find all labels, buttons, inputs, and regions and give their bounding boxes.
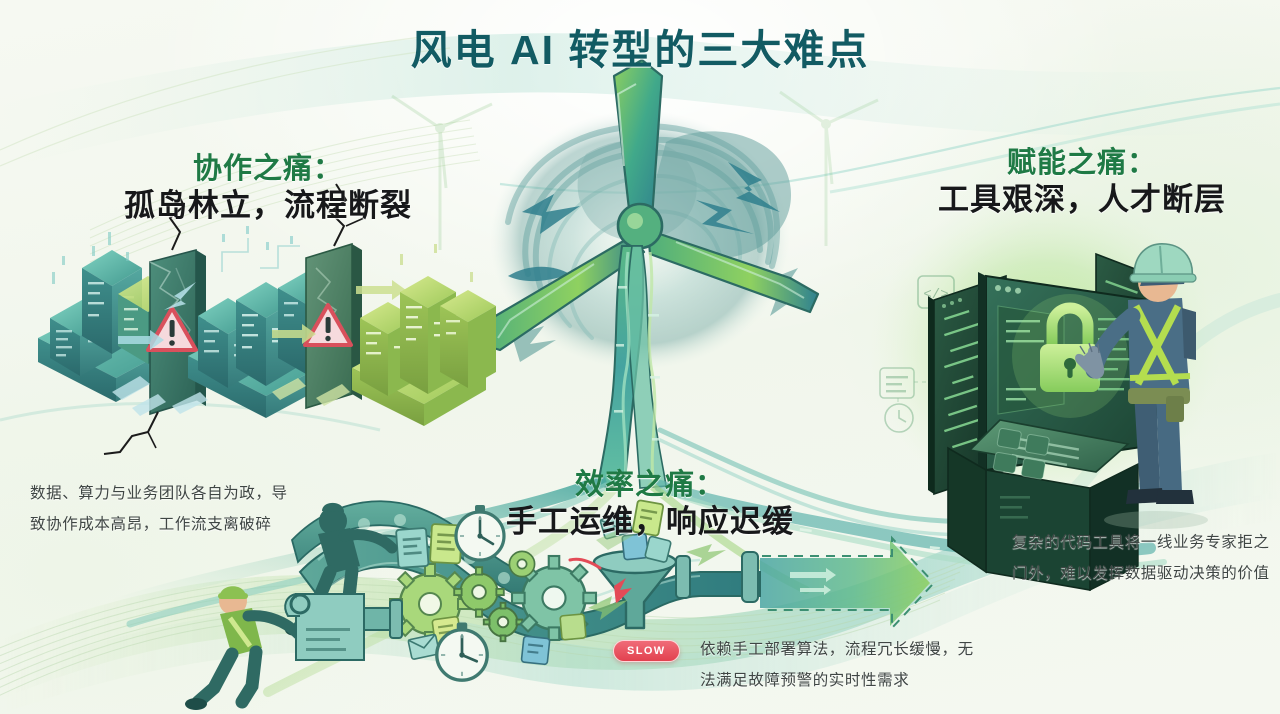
worker-pushing-lower — [185, 586, 298, 710]
heading-main: 手工运维，响应迟缓 — [470, 503, 830, 541]
section-body-enablement: 复杂的代码工具将一线业务专家拒之门外，难以发挥数据驱动决策的价值 — [1012, 527, 1274, 589]
section-heading-collaboration: 协作之痛： 孤岛林立，流程断裂 — [96, 152, 440, 225]
heading-accent: 赋能之痛： — [906, 146, 1258, 181]
manual-pipeline-illustration — [0, 0, 1280, 714]
gear-icon — [509, 551, 534, 576]
slow-badge: SLOW — [613, 640, 680, 662]
section-body-collaboration: 数据、算力与业务团队各自为政，导致协作成本高昂，工作流支离破碎 — [30, 478, 302, 540]
section-heading-enablement: 赋能之痛： 工具艰深，人才断层 — [906, 146, 1258, 219]
output-arrow — [760, 538, 932, 628]
heading-accent: 效率之痛： — [470, 468, 830, 503]
heading-accent: 协作之痛： — [96, 152, 440, 187]
heading-main: 工具艰深，人才断层 — [906, 181, 1258, 219]
page-title: 风电 AI 转型的三大难点 — [0, 16, 1280, 76]
section-body-efficiency: 依赖手工部署算法，流程冗长缓慢，无法满足故障预警的实时性需求 — [700, 634, 982, 696]
heading-main: 孤岛林立，流程断裂 — [96, 187, 440, 225]
infographic-poster: 风电 AI 转型的三大难点 — [0, 0, 1280, 714]
envelope-icon — [408, 634, 440, 659]
pipeline-machine-block — [285, 594, 402, 660]
section-heading-efficiency: 效率之痛： 手工运维，响应迟缓 — [470, 468, 830, 541]
